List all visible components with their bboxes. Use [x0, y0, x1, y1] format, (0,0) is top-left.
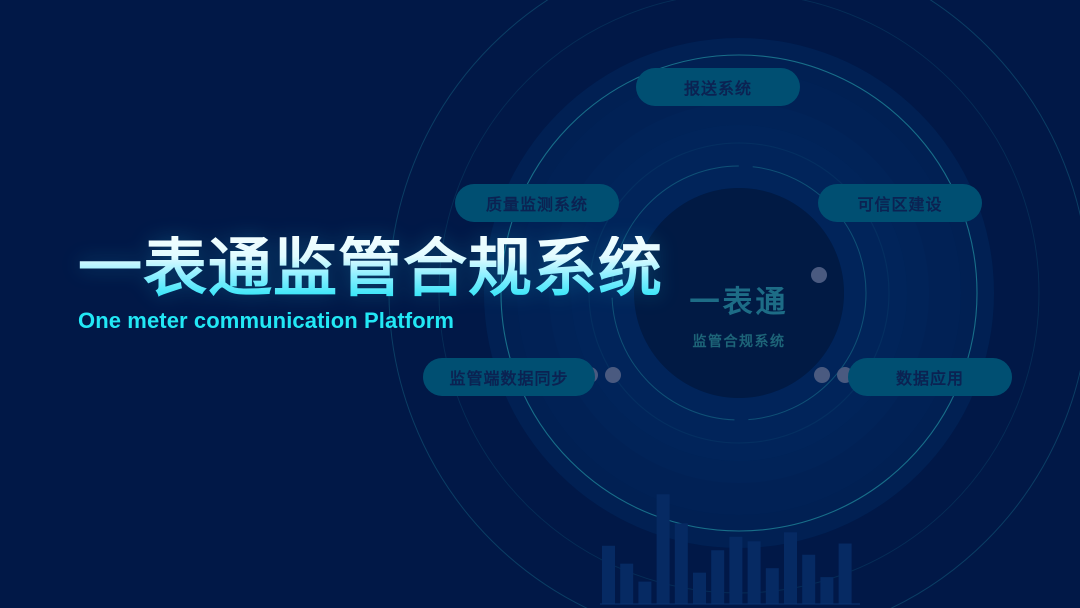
bar-3 [638, 582, 651, 604]
hero-title-block: 一表通监管合规系统 One meter communication Platfo… [78, 236, 698, 334]
bar-6 [693, 573, 706, 604]
bar-12 [802, 555, 815, 604]
bar-5 [675, 523, 688, 604]
node-pill-label: 报送系统 [684, 75, 752, 99]
bar-11 [784, 532, 797, 604]
node-pill-label: 可信区建设 [857, 191, 942, 215]
bar-10 [766, 568, 779, 604]
node-pill-label: 监管端数据同步 [449, 365, 568, 389]
node-zhiliang[interactable]: 质量监测系统 [455, 184, 619, 222]
node-baosong[interactable]: 报送系统 [636, 68, 800, 106]
slide-canvas: 一表通监管合规系统 One meter communication Platfo… [0, 0, 1080, 608]
dot-upper-right [811, 267, 827, 283]
bar-8 [729, 537, 742, 604]
node-shuju[interactable]: 数据应用 [848, 358, 1012, 396]
dot-lower-right-inner [814, 367, 830, 383]
node-kexinqu[interactable]: 可信区建设 [818, 184, 982, 222]
bar-4 [657, 494, 670, 604]
bar-9 [748, 541, 761, 604]
node-pill-label: 质量监测系统 [486, 191, 588, 215]
node-pill-label: 数据应用 [896, 365, 964, 389]
node-tongbu[interactable]: 监管端数据同步 [423, 358, 595, 396]
page-subtitle: One meter communication Platform [78, 308, 698, 334]
page-title: 一表通监管合规系统 [78, 236, 698, 300]
bar-1 [602, 546, 615, 604]
bar-7 [711, 550, 724, 604]
bar-undefined [839, 544, 852, 604]
bar-2 [620, 564, 633, 604]
bar-13 [820, 577, 833, 604]
dot-lower-left-inner [605, 367, 621, 383]
